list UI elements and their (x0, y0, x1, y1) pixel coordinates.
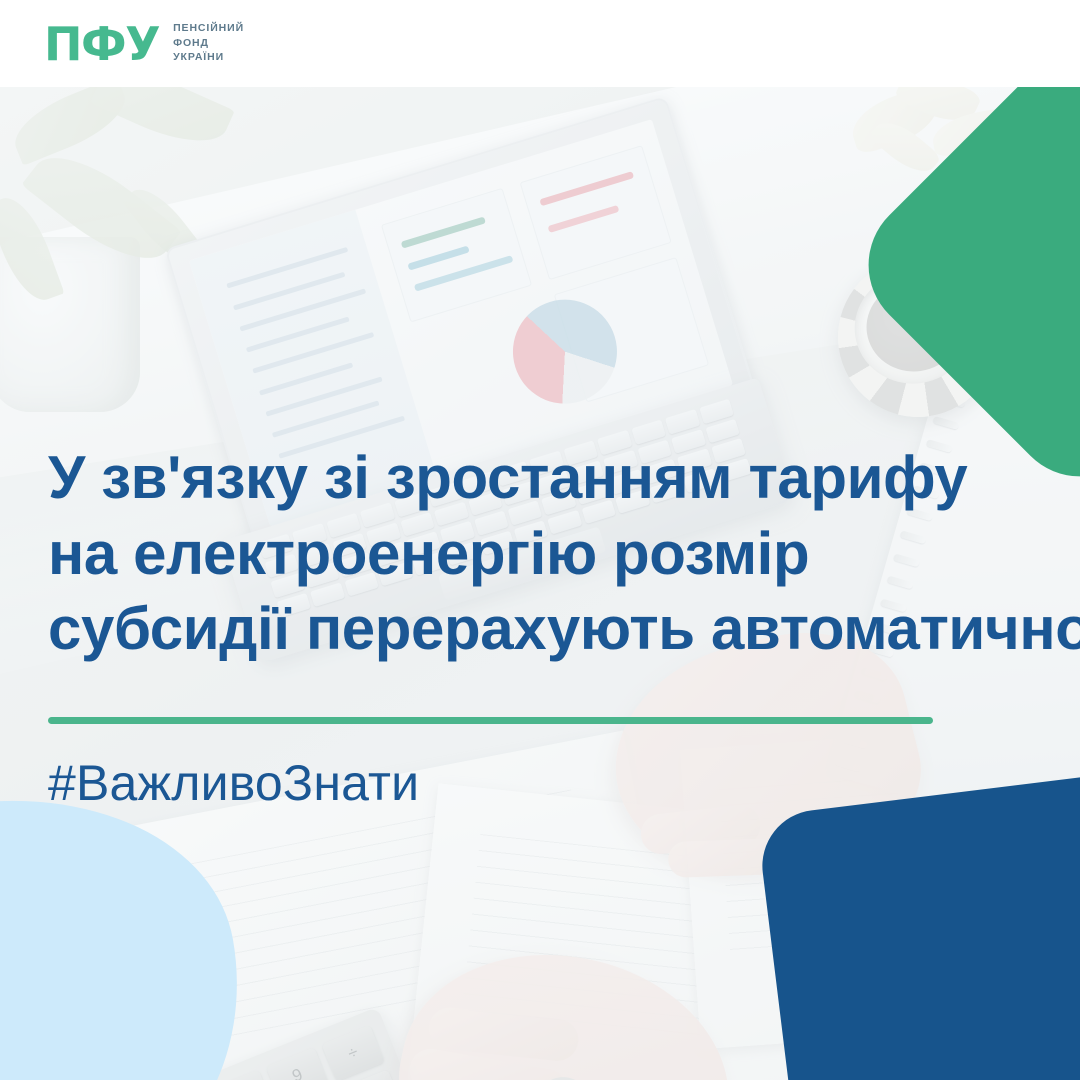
headline-line-3: субсидії перерахують автоматично (48, 591, 1038, 667)
headline-line-2: на електроенергію розмір (48, 516, 1038, 592)
logo-line-3: УКРАЇНИ (173, 51, 244, 64)
logo-line-1: ПЕНСІЙНИЙ (173, 22, 244, 35)
pfu-logo-mark: ПФУ (44, 21, 159, 67)
hashtag-label[interactable]: #ВажливоЗнати (48, 756, 1038, 811)
poster-content: У зв'язку зі зростанням тарифу на електр… (48, 440, 1038, 811)
page-title: У зв'язку зі зростанням тарифу на електр… (48, 440, 1038, 667)
social-media-poster: The 7 8 9 ÷ 4 5 6 × 1 2 3 − 0 . = + (0, 0, 1080, 1080)
green-divider (48, 717, 933, 724)
headline-line-1: У зв'язку зі зростанням тарифу (48, 440, 1038, 516)
logo-line-2: ФОНД (173, 37, 244, 50)
pfu-logo-wordmark: ПЕНСІЙНИЙ ФОНД УКРАЇНИ (173, 22, 244, 64)
pfu-logo[interactable]: ПФУ ПЕНСІЙНИЙ ФОНД УКРАЇНИ (44, 21, 244, 67)
header-bar: ПФУ ПЕНСІЙНИЙ ФОНД УКРАЇНИ (0, 0, 1080, 87)
decorative-blue-shape (756, 766, 1080, 1080)
